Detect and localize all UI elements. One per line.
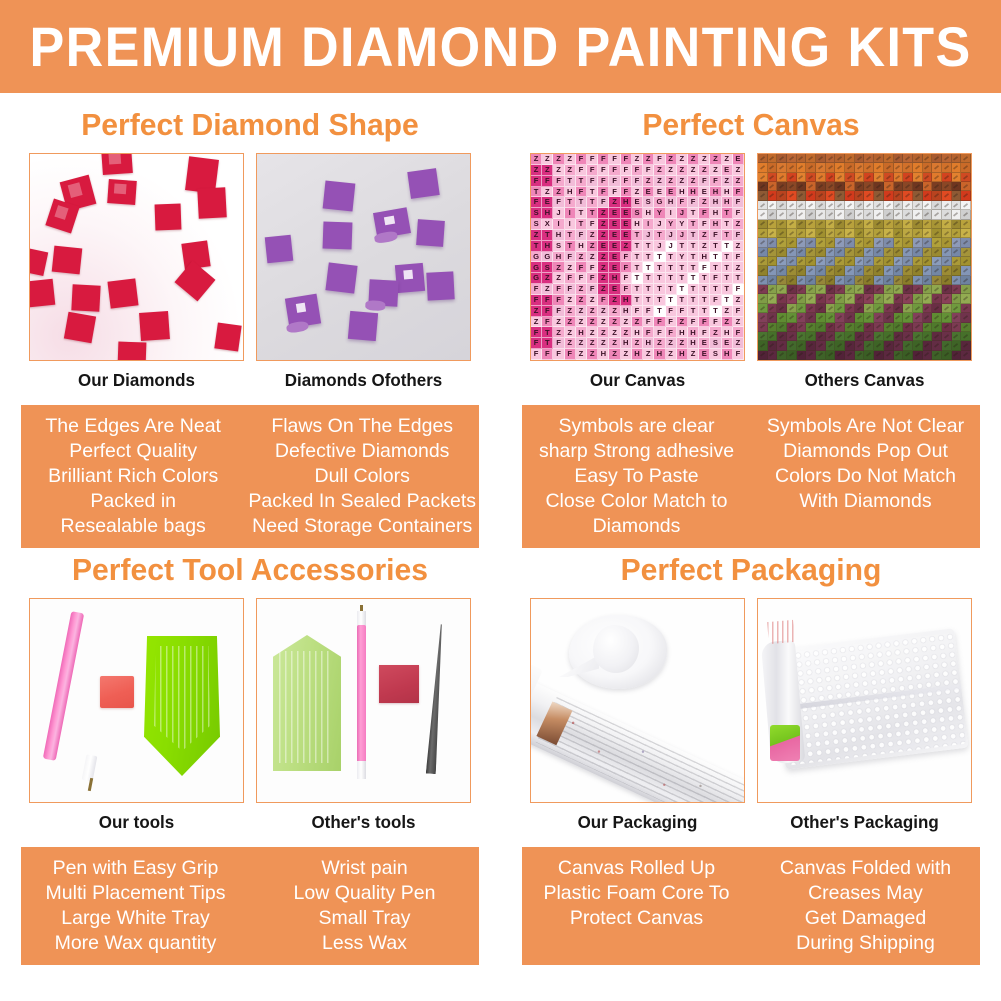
- canvas-pixel-cell: [913, 238, 923, 247]
- bullet-bar-packaging: Canvas Rolled Up Plastic Foam Core To Pr…: [522, 847, 980, 965]
- canvas-symbol-cell: F: [587, 176, 598, 187]
- canvas-pixel-cell: [777, 191, 787, 200]
- canvas-pixel-cell: [864, 238, 874, 247]
- canvas-symbol-cell: Z: [609, 349, 620, 360]
- canvas-pixel-cell: [903, 229, 913, 238]
- canvas-pixel-cell: [884, 201, 894, 210]
- canvas-symbol-cell: Z: [598, 252, 609, 263]
- canvas-pixel-cell: [806, 332, 816, 341]
- canvas-pixel-cell: [864, 341, 874, 350]
- canvas-pixel-cell: [903, 163, 913, 172]
- canvas-symbol-cell: F: [699, 176, 710, 187]
- canvas-symbol-cell: E: [643, 187, 654, 198]
- bullet-line: Multi Placement Tips: [24, 881, 247, 906]
- tray-and-pen-peeking: [770, 725, 800, 761]
- canvas-symbol-cell: F: [553, 176, 564, 187]
- canvas-pixel-cell: [826, 313, 836, 322]
- bullet-column-others: Wrist pain Low Quality Pen Small Tray Le…: [250, 856, 479, 956]
- canvas-pixel-cell: [961, 229, 971, 238]
- canvas-pixel-cell: [845, 248, 855, 257]
- canvas-pixel-cell: [797, 182, 807, 191]
- canvas-pixel-cell: [855, 257, 865, 266]
- canvas-pixel-cell: [952, 201, 962, 210]
- canvas-pixel-cell: [758, 304, 768, 313]
- canvas-pixel-cell: [952, 173, 962, 182]
- canvas-symbol-cell: E: [609, 262, 620, 273]
- canvas-pixel-cell: [932, 163, 942, 172]
- canvas-pixel-cell: [777, 266, 787, 275]
- canvas-symbol-cell: G: [531, 273, 542, 284]
- canvas-pixel-cell: [864, 276, 874, 285]
- canvas-symbol-cell: E: [666, 187, 677, 198]
- canvas-symbol-cell: T: [542, 327, 553, 338]
- section-title-tools: Perfect Tool Accessories: [8, 552, 493, 588]
- canvas-pixel-cell: [942, 173, 952, 182]
- canvas-pixel-cell: [826, 351, 836, 360]
- canvas-symbol-cell: T: [531, 187, 542, 198]
- canvas-symbol-cell: F: [699, 262, 710, 273]
- canvas-pixel-cell: [816, 182, 826, 191]
- canvas-pixel-cell: [826, 266, 836, 275]
- canvas-pixel-cell: [864, 285, 874, 294]
- canvas-symbol-cell: T: [576, 197, 587, 208]
- canvas-symbol-cell: F: [531, 284, 542, 295]
- canvas-pixel-cell: [913, 332, 923, 341]
- canvas-pixel-cell: [835, 201, 845, 210]
- canvas-pixel-cell: [952, 304, 962, 313]
- canvas-pixel-cell: [845, 332, 855, 341]
- canvas-pixel-cell: [913, 154, 923, 163]
- canvas-symbol-cell: F: [576, 165, 587, 176]
- drill-pen-end: [357, 761, 366, 779]
- canvas-pixel-cell: [835, 332, 845, 341]
- canvas-pixel-cell: [864, 248, 874, 257]
- canvas-symbol-cell: T: [666, 252, 677, 263]
- canvas-pixel-cell: [923, 351, 933, 360]
- canvas-pixel-cell: [787, 182, 797, 191]
- canvas-symbol-cell: Z: [643, 154, 654, 165]
- canvas-symbol-cell: Y: [654, 208, 665, 219]
- canvas-symbol-cell: Z: [531, 230, 542, 241]
- canvas-pixel-cell: [855, 266, 865, 275]
- canvas-symbol-cell: E: [621, 219, 632, 230]
- canvas-pixel-cell: [952, 238, 962, 247]
- canvas-pixel-cell: [758, 351, 768, 360]
- bullet-line: Symbols are clear: [525, 414, 748, 439]
- canvas-pixel-cell: [894, 182, 904, 191]
- canvas-pixel-cell: [864, 229, 874, 238]
- bullet-line: Flaws On The Edges: [248, 414, 476, 439]
- canvas-pixel-cell: [758, 229, 768, 238]
- canvas-symbol-cell: T: [542, 230, 553, 241]
- canvas-symbol-cell: Z: [598, 262, 609, 273]
- canvas-symbol-cell: F: [587, 165, 598, 176]
- canvas-symbol-cell: H: [632, 349, 643, 360]
- canvas-symbol-cell: Z: [553, 187, 564, 198]
- canvas-pixel-cell: [952, 313, 962, 322]
- canvas-symbol-cell: T: [666, 295, 677, 306]
- canvas-pixel-cell: [855, 238, 865, 247]
- canvas-symbol-cell: Z: [587, 252, 598, 263]
- canvas-pixel-cell: [913, 294, 923, 303]
- canvas-symbol-cell: Z: [643, 176, 654, 187]
- canvas-symbol-cell: T: [632, 241, 643, 252]
- canvas-pixel-cell: [884, 285, 894, 294]
- canvas-pixel-cell: [835, 248, 845, 257]
- bullet-line: Need Storage Containers: [248, 514, 476, 539]
- canvas-pixel-cell: [961, 210, 971, 219]
- diamond-piece: [348, 311, 378, 341]
- canvas-pixel-cell: [787, 173, 797, 182]
- canvas-pixel-cell: [845, 182, 855, 191]
- canvas-pixel-cell: [826, 341, 836, 350]
- canvas-pixel-cell: [816, 341, 826, 350]
- canvas-symbol-cell: E: [699, 187, 710, 198]
- canvas-symbol-cell: Z: [677, 338, 688, 349]
- canvas-symbol-cell: Z: [565, 154, 576, 165]
- canvas-symbol-cell: Z: [565, 338, 576, 349]
- canvas-pixel-cell: [777, 257, 787, 266]
- diamond-piece: [323, 222, 353, 250]
- photo-caption-others-diamonds: Diamonds Ofothers: [259, 370, 468, 391]
- diamond-piece: [29, 279, 55, 308]
- canvas-pixel-cell: [758, 191, 768, 200]
- canvas-symbol-cell: T: [722, 252, 733, 263]
- canvas-symbol-cell: F: [565, 349, 576, 360]
- canvas-symbol-cell: Z: [632, 187, 643, 198]
- canvas-pixel-cell: [835, 341, 845, 350]
- canvas-pixel-cell: [806, 154, 816, 163]
- canvas-pixel-cell: [961, 323, 971, 332]
- canvas-symbol-cell: Z: [733, 338, 744, 349]
- canvas-pixel-cell: [787, 323, 797, 332]
- canvas-symbol-cell: T: [710, 241, 721, 252]
- canvas-pixel-cell: [797, 154, 807, 163]
- canvas-pixel-cell: [835, 191, 845, 200]
- canvas-symbol-cell: Z: [733, 165, 744, 176]
- bullet-bar-tools: Pen with Easy Grip Multi Placement Tips …: [21, 847, 479, 965]
- canvas-pixel-cell: [845, 229, 855, 238]
- canvas-symbol-cell: T: [688, 295, 699, 306]
- canvas-pixel-cell: [758, 154, 768, 163]
- bullet-line: Less Wax: [253, 931, 476, 956]
- canvas-pixel-cell: [826, 210, 836, 219]
- canvas-pixel-cell: [874, 294, 884, 303]
- canvas-pixel-cell: [913, 220, 923, 229]
- canvas-pixel-cell: [787, 276, 797, 285]
- canvas-pixel-cell: [816, 238, 826, 247]
- canvas-pixel-cell: [835, 229, 845, 238]
- canvas-pixel-cell: [864, 182, 874, 191]
- canvas-pixel-cell: [816, 229, 826, 238]
- canvas-pixel-cell: [806, 341, 816, 350]
- canvas-pixel-cell: [894, 163, 904, 172]
- canvas-symbol-cell: E: [609, 252, 620, 263]
- canvas-pixel-cell: [894, 266, 904, 275]
- canvas-pixel-cell: [816, 313, 826, 322]
- diamond-piece: [52, 246, 83, 275]
- canvas-pixel-cell: [816, 257, 826, 266]
- canvas-symbol-cell: Z: [565, 317, 576, 328]
- canvas-symbol-cell: F: [553, 284, 564, 295]
- diamond-piece: [265, 235, 294, 264]
- canvas-pixel-cell: [806, 173, 816, 182]
- canvas-symbol-cell: Z: [666, 165, 677, 176]
- canvas-pixel-cell: [923, 154, 933, 163]
- canvas-pixel-cell: [816, 351, 826, 360]
- photo-caption-our-canvas: Our Canvas: [533, 370, 742, 391]
- canvas-symbol-cell: F: [699, 208, 710, 219]
- canvas-pixel-cell: [768, 276, 778, 285]
- canvas-pixel-cell: [797, 266, 807, 275]
- canvas-pixel-cell: [806, 182, 816, 191]
- canvas-pixel-cell: [797, 210, 807, 219]
- canvas-symbol-cell: Z: [576, 349, 587, 360]
- canvas-pixel-cell: [835, 294, 845, 303]
- section-packaging: Perfect Packaging Our Packaging: [501, 538, 1001, 978]
- bullet-line: Small Tray: [253, 906, 476, 931]
- canvas-pixel-cell: [777, 210, 787, 219]
- canvas-symbol-cell: F: [699, 219, 710, 230]
- canvas-symbol-cell: Z: [576, 317, 587, 328]
- bullet-line: Wrist pain: [253, 856, 476, 881]
- canvas-symbol-cell: F: [621, 262, 632, 273]
- canvas-symbol-cell: Z: [621, 349, 632, 360]
- canvas-pixel-cell: [797, 191, 807, 200]
- canvas-symbol-cell: H: [609, 273, 620, 284]
- canvas-pixel-cell: [913, 173, 923, 182]
- canvas-pixel-cell: [894, 248, 904, 257]
- canvas-symbol-cell: S: [542, 262, 553, 273]
- canvas-pixel-cell: [884, 163, 894, 172]
- canvas-symbol-cell: T: [677, 273, 688, 284]
- canvas-pixel-cell: [932, 266, 942, 275]
- canvas-symbol-cell: H: [654, 349, 665, 360]
- canvas-pixel-cell: [777, 248, 787, 257]
- canvas-pixel-cell: [806, 351, 816, 360]
- canvas-pixel-cell: [797, 276, 807, 285]
- canvas-pixel-cell: [952, 191, 962, 200]
- canvas-symbol-grid: ZZZZFFFFFZZFZZZZZZEZZZZFFFFFFFZZZZZZEZFF…: [531, 154, 744, 360]
- canvas-pixel-cell: [806, 229, 816, 238]
- canvas-symbol-cell: F: [587, 273, 598, 284]
- canvas-pixel-cell: [787, 332, 797, 341]
- bullet-column-ours: Pen with Easy Grip Multi Placement Tips …: [21, 856, 250, 956]
- canvas-symbol-cell: T: [587, 208, 598, 219]
- canvas-pixel-cell: [864, 266, 874, 275]
- canvas-pixel-cell: [932, 229, 942, 238]
- canvas-pixel-cell: [913, 276, 923, 285]
- canvas-symbol-cell: F: [688, 197, 699, 208]
- bullet-line: Easy To Paste: [525, 464, 748, 489]
- canvas-symbol-cell: F: [598, 154, 609, 165]
- canvas-symbol-cell: F: [531, 327, 542, 338]
- canvas-symbol-cell: T: [733, 273, 744, 284]
- canvas-pixel-cell: [932, 313, 942, 322]
- canvas-pixel-cell: [894, 154, 904, 163]
- canvas-pixel-cell: [835, 163, 845, 172]
- canvas-pixel-cell: [923, 238, 933, 247]
- canvas-pixel-cell: [942, 323, 952, 332]
- canvas-symbol-cell: H: [677, 349, 688, 360]
- canvas-pixel-cell: [913, 285, 923, 294]
- canvas-symbol-cell: Z: [632, 338, 643, 349]
- canvas-symbol-cell: Z: [733, 317, 744, 328]
- canvas-pixel-cell: [903, 257, 913, 266]
- canvas-pixel-cell: [835, 238, 845, 247]
- canvas-pixel-cell: [768, 248, 778, 257]
- canvas-symbol-cell: Z: [621, 327, 632, 338]
- canvas-pixel-cell: [952, 294, 962, 303]
- canvas-pixel-cell: [884, 191, 894, 200]
- diamond-piece: [395, 263, 425, 293]
- canvas-pixel-cell: [952, 323, 962, 332]
- canvas-pixel-cell: [942, 229, 952, 238]
- canvas-pixel-cell: [923, 229, 933, 238]
- bullet-line: More Wax quantity: [24, 931, 247, 956]
- canvas-pixel-cell: [835, 210, 845, 219]
- canvas-symbol-cell: I: [565, 219, 576, 230]
- canvas-pixel-cell: [816, 285, 826, 294]
- canvas-pixel-cell: [952, 182, 962, 191]
- canvas-pixel-cell: [913, 257, 923, 266]
- canvas-pixel-cell: [903, 266, 913, 275]
- canvas-pixel-cell: [855, 191, 865, 200]
- canvas-pixel-cell: [884, 341, 894, 350]
- canvas-symbol-cell: Z: [688, 165, 699, 176]
- canvas-symbol-cell: F: [677, 306, 688, 317]
- canvas-symbol-cell: F: [677, 197, 688, 208]
- photo-caption-others-tools: Other's tools: [259, 812, 468, 833]
- canvas-pixel-cell: [942, 163, 952, 172]
- canvas-pixel-cell: [835, 313, 845, 322]
- canvas-pixel-cell: [932, 341, 942, 350]
- canvas-pixel-cell: [874, 276, 884, 285]
- canvas-pixel-cell: [797, 304, 807, 313]
- canvas-pixel-cell: [942, 304, 952, 313]
- canvas-pixel-cell: [787, 191, 797, 200]
- canvas-symbol-cell: Z: [666, 176, 677, 187]
- foam-core-inner: [593, 625, 639, 673]
- canvas-pixel-cell: [768, 229, 778, 238]
- canvas-symbol-cell: F: [710, 273, 721, 284]
- canvas-symbol-cell: T: [565, 176, 576, 187]
- canvas-pixel-cell: [884, 257, 894, 266]
- canvas-pixel-cell: [874, 173, 884, 182]
- canvas-pixel-cell: [777, 154, 787, 163]
- canvas-symbol-cell: Z: [688, 176, 699, 187]
- canvas-symbol-cell: T: [565, 197, 576, 208]
- canvas-pixel-cell: [816, 304, 826, 313]
- canvas-pixel-cell: [777, 238, 787, 247]
- canvas-symbol-cell: H: [621, 306, 632, 317]
- canvas-symbol-cell: Z: [722, 306, 733, 317]
- canvas-symbol-cell: Z: [598, 284, 609, 295]
- canvas-symbol-cell: H: [710, 187, 721, 198]
- canvas-pixel-cell: [874, 210, 884, 219]
- bullet-line: Dull Colors: [248, 464, 476, 489]
- canvas-pixel-cell: [884, 266, 894, 275]
- diamond-piece: [368, 279, 398, 306]
- comparison-cell-our-diamonds: Our Diamonds: [29, 153, 244, 391]
- canvas-pixel-cell: [923, 285, 933, 294]
- canvas-symbol-cell: F: [710, 230, 721, 241]
- canvas-pixel-cell: [855, 182, 865, 191]
- canvas-pixel-cell: [894, 191, 904, 200]
- canvas-pixel-cell: [826, 257, 836, 266]
- canvas-pixel-cell: [758, 313, 768, 322]
- canvas-pixel-cell: [777, 220, 787, 229]
- canvas-pixel-cell: [932, 238, 942, 247]
- canvas-pixel-cell: [777, 276, 787, 285]
- canvas-pixel-cell: [816, 154, 826, 163]
- canvas-symbol-cell: F: [598, 197, 609, 208]
- canvas-pixel-cell: [864, 294, 874, 303]
- canvas-pixel-cell: [913, 191, 923, 200]
- canvas-pixel-cell: [923, 173, 933, 182]
- canvas-symbol-cell: T: [632, 230, 643, 241]
- bullet-line: Diamonds: [525, 514, 748, 539]
- canvas-pixel-cell: [835, 173, 845, 182]
- canvas-pixel-cell: [826, 248, 836, 257]
- canvas-pixel-cell: [787, 285, 797, 294]
- canvas-symbol-cell: T: [565, 241, 576, 252]
- canvas-pixel-cell: [787, 220, 797, 229]
- canvas-symbol-cell: T: [677, 284, 688, 295]
- bullet-line: Close Color Match to: [525, 489, 748, 514]
- canvas-pixel-cell: [787, 210, 797, 219]
- canvas-symbol-cell: T: [710, 262, 721, 273]
- canvas-pixel-cell: [903, 182, 913, 191]
- canvas-symbol-cell: F: [565, 252, 576, 263]
- diamond-piece: [323, 181, 356, 212]
- canvas-pixel-cell: [874, 304, 884, 313]
- canvas-pixel-cell: [942, 191, 952, 200]
- canvas-symbol-cell: F: [553, 338, 564, 349]
- canvas-symbol-cell: F: [542, 176, 553, 187]
- diamond-tray-ribs: [279, 651, 333, 763]
- canvas-symbol-cell: T: [710, 252, 721, 263]
- canvas-symbol-cell: Z: [677, 165, 688, 176]
- canvas-pixel-cell: [855, 173, 865, 182]
- canvas-symbol-cell: I: [565, 208, 576, 219]
- canvas-pixel-cell: [758, 163, 768, 172]
- canvas-symbol-cell: Z: [598, 327, 609, 338]
- canvas-symbol-cell: S: [710, 338, 721, 349]
- canvas-symbol-cell: H: [677, 187, 688, 198]
- canvas-pixel-cell: [923, 266, 933, 275]
- canvas-symbol-cell: E: [609, 241, 620, 252]
- canvas-pixel-cell: [855, 210, 865, 219]
- canvas-pixel-cell: [942, 313, 952, 322]
- canvas-symbol-cell: F: [576, 273, 587, 284]
- canvas-pixel-cell: [903, 220, 913, 229]
- photo-caption-others-canvas: Others Canvas: [760, 370, 969, 391]
- canvas-symbol-cell: H: [710, 219, 721, 230]
- canvas-symbol-cell: F: [542, 349, 553, 360]
- canvas-pixel-cell: [894, 285, 904, 294]
- comparison-cell-others-packaging: Other's Packaging: [757, 598, 972, 833]
- canvas-pixel-cell: [835, 285, 845, 294]
- photo-caption-others-packaging: Other's Packaging: [760, 812, 969, 833]
- canvas-symbol-cell: Z: [609, 306, 620, 317]
- canvas-pixel-cell: [932, 173, 942, 182]
- canvas-pixel-cell: [961, 238, 971, 247]
- canvas-pixel-cell: [797, 238, 807, 247]
- canvas-symbol-cell: E: [733, 154, 744, 165]
- bullet-column-ours: The Edges Are Neat Perfect Quality Brill…: [21, 414, 245, 539]
- page-header-banner: PREMIUM DIAMOND PAINTING KITS: [0, 0, 1001, 93]
